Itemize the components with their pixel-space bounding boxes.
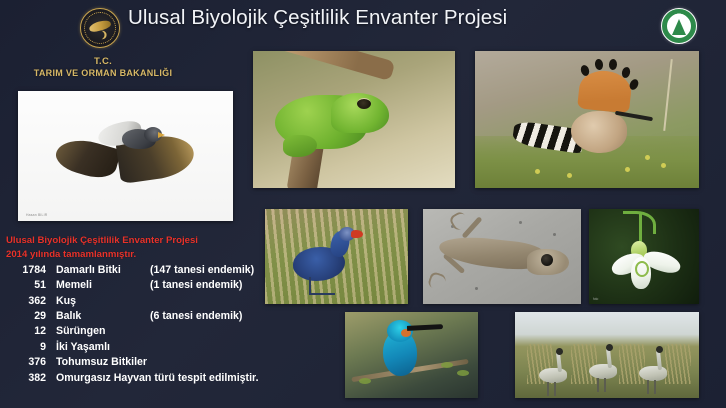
hoopoe-body (571, 111, 627, 153)
statistic-row: 9İki Yaşamlı (6, 340, 258, 355)
crane-head (656, 346, 663, 353)
frog-upper-branch (275, 51, 396, 81)
statistic-row: 376Tohumsuz Bitkiler (6, 355, 258, 370)
crane-head (606, 344, 613, 351)
statistic-row: 362Kuş (6, 294, 258, 309)
crane-leg (604, 378, 606, 392)
statistic-row: 51Memeli(1 tanesi endemik) (6, 278, 258, 293)
statistic-count: 1784 (6, 263, 46, 278)
swamphen-beak (351, 230, 363, 238)
falcon-in-flight-photo: Hasan BILIR (18, 91, 233, 221)
crest-tip (594, 58, 603, 70)
tree-frog-photo (253, 51, 455, 188)
statistic-row: 29Balık(6 tanesi endemik) (6, 309, 258, 324)
yellow-flower-dot (567, 173, 572, 178)
forestry-green-emblem-icon (661, 8, 697, 44)
crane-body (539, 368, 567, 383)
statistic-count: 12 (6, 324, 46, 339)
crane-body (589, 364, 617, 379)
statistics-block: Ulusal Biyolojik Çeşitlilik Envanter Pro… (6, 234, 258, 386)
tc-ministry-emblem-icon (80, 8, 120, 48)
statistic-label: Tohumsuz Bitkiler (46, 355, 147, 370)
yellow-flower-dot (645, 155, 650, 160)
statistic-count: 376 (6, 355, 46, 370)
slide-header: Ulusal Biyolojik Çeşitlilik Envanter Pro… (0, 0, 726, 50)
wall-speck (475, 287, 478, 290)
ministry-caption-line1: T.C. (0, 56, 206, 68)
statistic-note: (6 tanesi endemik) (150, 309, 242, 324)
crest-tip (609, 59, 618, 71)
snowdrop-flower-photo: foto (589, 209, 699, 304)
statistic-label: Kuş (46, 294, 76, 309)
crane-leg (547, 382, 549, 396)
kingfisher-bird-photo (345, 312, 478, 398)
kingfisher-beak (407, 324, 443, 331)
falcon-illustration (56, 119, 196, 191)
purple-swamphen-photo (265, 209, 408, 304)
gecko-lizard-photo (423, 209, 581, 304)
hoopoe-bird-photo (475, 51, 699, 188)
statistic-count: 9 (6, 340, 46, 355)
crane-leg (647, 380, 649, 394)
statistics-heading-line1: Ulusal Biyolojik Çeşitlilik Envanter Pro… (6, 234, 258, 248)
cranes-in-grassland-photo (515, 312, 699, 398)
crane-leg (554, 382, 556, 396)
statistic-note: (1 tanesi endemik) (150, 278, 242, 293)
crane-body (639, 366, 667, 381)
page-title: Ulusal Biyolojik Çeşitlilik Envanter Pro… (128, 6, 638, 30)
dry-stalk (663, 59, 673, 131)
leaf (457, 370, 469, 376)
statistics-rows: 1784Damarlı Bitki(147 tanesi endemik)51M… (6, 263, 258, 386)
gecko-eye (541, 254, 553, 266)
yellow-flower-dot (661, 163, 666, 168)
wall-speck (553, 233, 556, 236)
photo-credit: Hasan BILIR (26, 213, 47, 217)
statistic-label: Damarlı Bitki (46, 263, 150, 278)
swamphen-legs (309, 277, 335, 295)
grass-tuft (619, 344, 645, 384)
statistic-count: 362 (6, 294, 46, 309)
statistic-count: 51 (6, 278, 46, 293)
photo-watermark: foto (593, 297, 598, 301)
statistics-heading-line2: 2014 yılında tamamlanmıştır. (6, 248, 258, 262)
crane-leg (597, 378, 599, 392)
tree-icon (672, 19, 686, 35)
statistic-note: (147 tanesi endemik) (150, 263, 254, 278)
yellow-flower-dot (625, 167, 630, 172)
gecko-foot (427, 271, 447, 291)
statistic-label: Balık (46, 309, 150, 324)
statistic-row: 12Sürüngen (6, 324, 258, 339)
snowdrop-inner-marking (635, 261, 649, 277)
presentation-slide: Ulusal Biyolojik Çeşitlilik Envanter Pro… (0, 0, 726, 408)
crest-tip (621, 66, 631, 79)
statistic-count: 29 (6, 309, 46, 324)
emblem-crescent-shape (96, 30, 105, 39)
statistic-row: 382Omurgasız Hayvan türü tespit edilmişt… (6, 371, 258, 386)
statistic-label: İki Yaşamlı (46, 340, 110, 355)
crane-leg (654, 380, 656, 394)
statistic-label: Sürüngen (46, 324, 105, 339)
leaf (359, 378, 371, 384)
frog-eye (357, 98, 371, 109)
statistic-label: Memeli (46, 278, 150, 293)
ministry-caption-line2: TARIM VE ORMAN BAKANLIĞI (0, 68, 206, 79)
crane-head (556, 348, 563, 355)
statistics-heading: Ulusal Biyolojik Çeşitlilik Envanter Pro… (6, 234, 258, 262)
yellow-flower-dot (535, 169, 540, 174)
wall-speck (519, 221, 522, 224)
grass-tuft (665, 344, 691, 384)
statistic-row: 1784Damarlı Bitki(147 tanesi endemik) (6, 263, 258, 278)
ministry-caption: T.C. TARIM VE ORMAN BAKANLIĞI (0, 56, 206, 79)
statistic-label: Omurgasız Hayvan türü tespit edilmiştir. (46, 371, 259, 386)
falcon-beak (158, 132, 165, 138)
statistic-count: 382 (6, 371, 46, 386)
grass-tuft (571, 344, 597, 384)
leaf (441, 362, 453, 368)
